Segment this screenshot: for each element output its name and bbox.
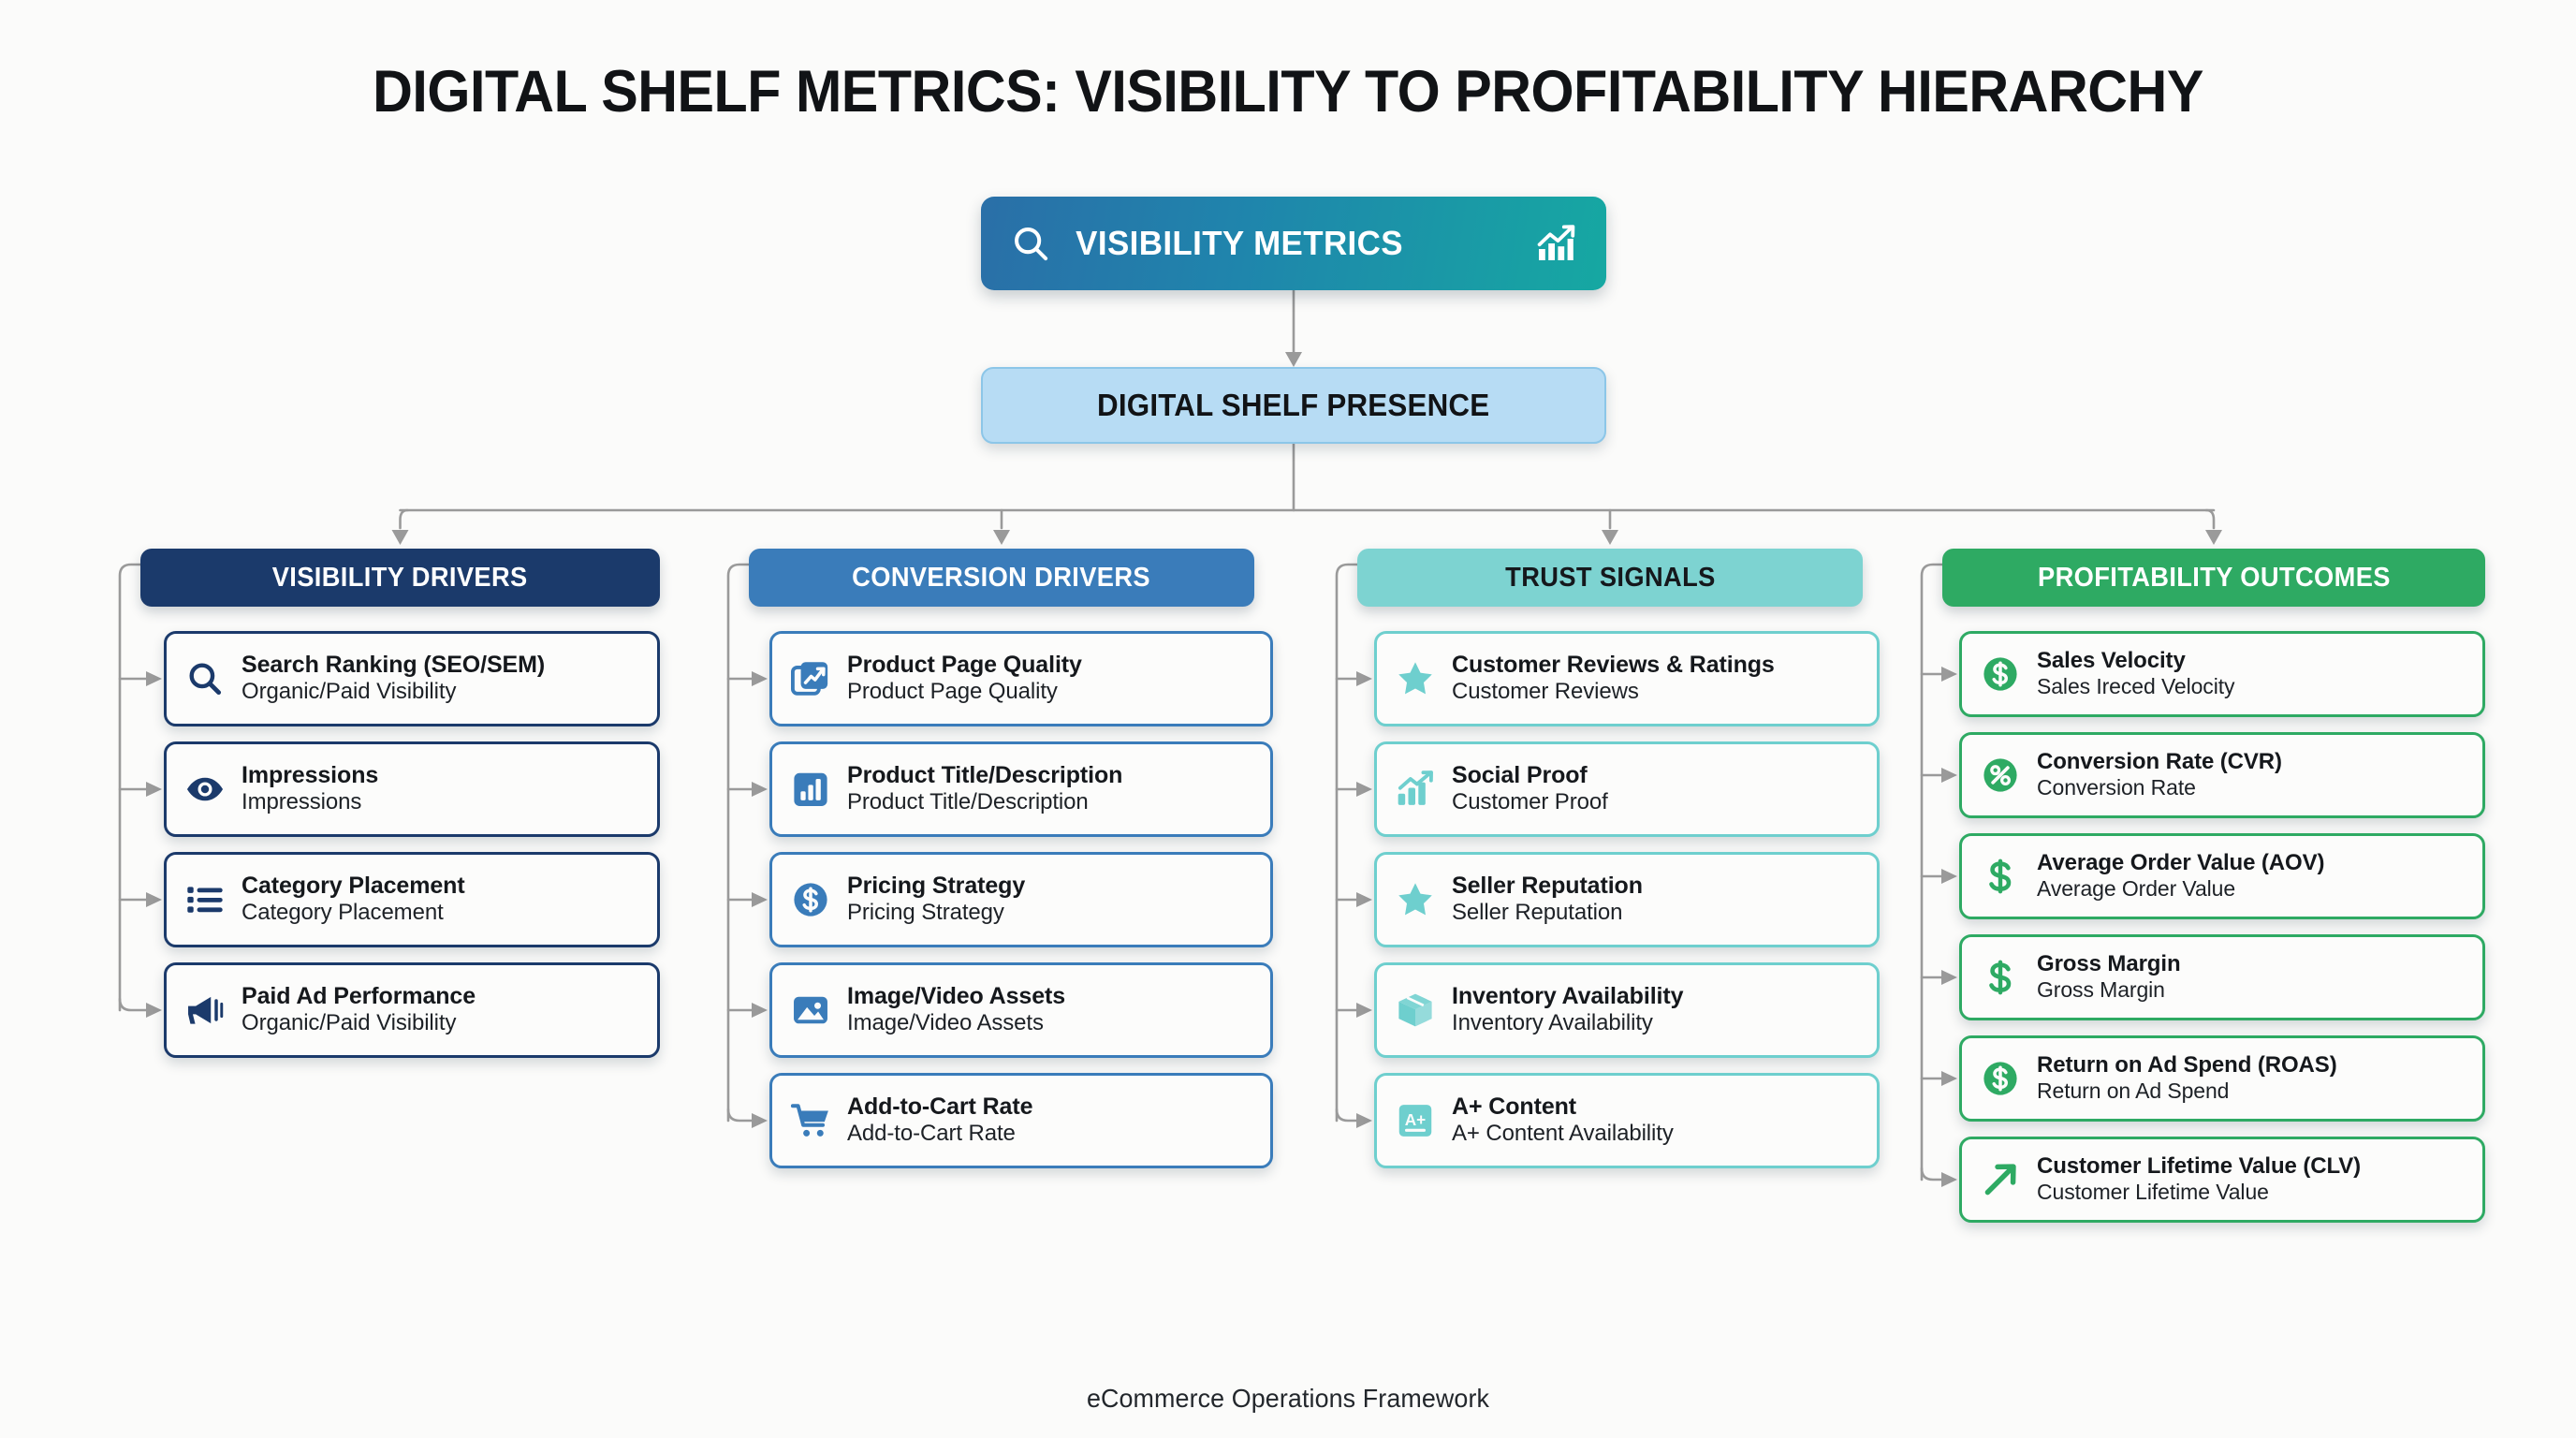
image-icon — [789, 989, 832, 1032]
metric-card-text: Return on Ad Spend (ROAS)Return on Ad Sp… — [2037, 1052, 2469, 1104]
metric-card-title: Add-to-Cart Rate — [847, 1093, 1257, 1121]
arrow-up-right-icon — [1979, 1158, 2022, 1201]
metric-card-subtitle: Return on Ad Spend — [2037, 1078, 2469, 1105]
trend-image-icon — [789, 657, 832, 700]
metric-card[interactable]: Product Title/DescriptionProduct Title/D… — [769, 741, 1273, 837]
metric-card-subtitle: Category Placement — [241, 900, 644, 927]
metric-card-subtitle: Conversion Rate — [2037, 775, 2469, 801]
metric-card-text: Image/Video AssetsImage/Video Assets — [847, 983, 1257, 1037]
cart-icon — [789, 1099, 832, 1142]
root-node-visibility-metrics[interactable]: VISIBILITY METRICS — [981, 197, 1606, 290]
column-trust-signals: TRUST SIGNALSCustomer Reviews & RatingsC… — [1357, 549, 1863, 607]
column-header-visibility-drivers[interactable]: VISIBILITY DRIVERS — [140, 549, 660, 607]
metric-card-title: Inventory Availability — [1452, 983, 1864, 1010]
metric-card[interactable]: Social ProofCustomer Proof — [1374, 741, 1880, 837]
metric-card-subtitle: Organic/Paid Visibility — [241, 1010, 644, 1037]
metric-card[interactable]: Image/Video AssetsImage/Video Assets — [769, 962, 1273, 1058]
dollar-circle-icon — [789, 878, 832, 921]
megaphone-icon — [183, 989, 227, 1032]
metric-card[interactable]: A+ A+ ContentA+ Content Availability — [1374, 1073, 1880, 1168]
aplus-icon: A+ — [1394, 1099, 1437, 1142]
metric-card-title: Social Proof — [1452, 762, 1864, 789]
metric-card-text: Inventory AvailabilityInventory Availabi… — [1452, 983, 1864, 1037]
metric-card[interactable]: Conversion Rate (CVR)Conversion Rate — [1959, 732, 2485, 818]
metric-card-title: Gross Margin — [2037, 951, 2469, 977]
column-profitability-outcomes: PROFITABILITY OUTCOMES Sales VelocitySal… — [1942, 549, 2485, 607]
metric-card-subtitle: Product Title/Description — [847, 789, 1257, 816]
metric-card[interactable]: Customer Reviews & RatingsCustomer Revie… — [1374, 631, 1880, 726]
metric-card-subtitle: Gross Margin — [2037, 977, 2469, 1004]
svg-text:A+: A+ — [1405, 1110, 1427, 1129]
star-icon — [1394, 657, 1437, 700]
metric-card-title: Sales Velocity — [2037, 648, 2469, 674]
bar-chart-icon — [789, 768, 832, 811]
metric-card-text: Customer Lifetime Value (CLV)Customer Li… — [2037, 1153, 2469, 1205]
page-title: DIGITAL SHELF METRICS: VISIBILITY TO PRO… — [78, 58, 2499, 125]
column-header-profitability-outcomes[interactable]: PROFITABILITY OUTCOMES — [1942, 549, 2485, 607]
chart-growth-icon — [1533, 221, 1578, 266]
metric-card[interactable]: Paid Ad PerformanceOrganic/Paid Visibili… — [164, 962, 660, 1058]
metric-card-text: Category PlacementCategory Placement — [241, 873, 644, 927]
metric-card-text: Conversion Rate (CVR)Conversion Rate — [2037, 749, 2469, 800]
metric-card[interactable]: Product Page QualityProduct Page Quality — [769, 631, 1273, 726]
level2-node-label: DIGITAL SHELF PRESENCE — [1097, 388, 1489, 423]
dollar-circle-icon — [1979, 653, 2022, 696]
metric-card[interactable]: Seller ReputationSeller Reputation — [1374, 852, 1880, 947]
metric-card-subtitle: Sales Ireced Velocity — [2037, 674, 2469, 700]
metric-card-text: Product Page QualityProduct Page Quality — [847, 652, 1257, 706]
dollar-icon — [1979, 956, 2022, 999]
metric-card[interactable]: Add-to-Cart RateAdd-to-Cart Rate — [769, 1073, 1273, 1168]
metric-card-text: A+ ContentA+ Content Availability — [1452, 1093, 1864, 1148]
metric-card-text: Customer Reviews & RatingsCustomer Revie… — [1452, 652, 1864, 706]
metric-card-title: Average Order Value (AOV) — [2037, 850, 2469, 876]
metric-card-subtitle: Product Page Quality — [847, 679, 1257, 706]
metric-card-title: Customer Lifetime Value (CLV) — [2037, 1153, 2469, 1180]
column-header-label: CONVERSION DRIVERS — [853, 563, 1151, 594]
metric-card-subtitle: Inventory Availability — [1452, 1010, 1864, 1037]
column-header-label: PROFITABILITY OUTCOMES — [2038, 563, 2391, 594]
column-header-trust-signals[interactable]: TRUST SIGNALS — [1357, 549, 1863, 607]
metric-card[interactable]: Sales VelocitySales Ireced Velocity — [1959, 631, 2485, 717]
column-conversion-drivers: CONVERSION DRIVERS Product Page QualityP… — [749, 549, 1273, 607]
metric-card-subtitle: Customer Proof — [1452, 789, 1864, 816]
metric-card-title: Impressions — [241, 762, 644, 789]
metric-card-subtitle: Organic/Paid Visibility — [241, 679, 644, 706]
eye-icon — [183, 768, 227, 811]
metric-card-title: Pricing Strategy — [847, 873, 1257, 900]
metric-card-text: Sales VelocitySales Ireced Velocity — [2037, 648, 2469, 699]
metric-card-title: Conversion Rate (CVR) — [2037, 749, 2469, 775]
metric-card-title: Paid Ad Performance — [241, 983, 644, 1010]
column-header-label: TRUST SIGNALS — [1505, 563, 1715, 594]
footer-note: eCommerce Operations Framework — [51, 1384, 2525, 1414]
metric-card-subtitle: Customer Lifetime Value — [2037, 1180, 2469, 1206]
root-node-label: VISIBILITY METRICS — [1076, 224, 1510, 263]
dollar-circle-icon — [1979, 1057, 2022, 1100]
metric-card-title: Product Title/Description — [847, 762, 1257, 789]
metric-card[interactable]: Gross MarginGross Margin — [1959, 934, 2485, 1020]
percent-circle-icon — [1979, 754, 2022, 797]
metric-card-title: A+ Content — [1452, 1093, 1864, 1121]
metric-card-text: Search Ranking (SEO/SEM)Organic/Paid Vis… — [241, 652, 644, 706]
metric-card-subtitle: Pricing Strategy — [847, 900, 1257, 927]
dollar-icon — [1979, 855, 2022, 898]
metric-card-subtitle: A+ Content Availability — [1452, 1121, 1864, 1148]
metric-card-text: ImpressionsImpressions — [241, 762, 644, 816]
metric-card[interactable]: Inventory AvailabilityInventory Availabi… — [1374, 962, 1880, 1058]
metric-card-title: Category Placement — [241, 873, 644, 900]
metric-card-title: Seller Reputation — [1452, 873, 1864, 900]
metric-card-subtitle: Image/Video Assets — [847, 1010, 1257, 1037]
metric-card-text: Social ProofCustomer Proof — [1452, 762, 1864, 816]
metric-card-text: Paid Ad PerformanceOrganic/Paid Visibili… — [241, 983, 644, 1037]
metric-card-subtitle: Impressions — [241, 789, 644, 816]
metric-card[interactable]: Customer Lifetime Value (CLV)Customer Li… — [1959, 1137, 2485, 1223]
metric-card-title: Image/Video Assets — [847, 983, 1257, 1010]
metric-card-title: Customer Reviews & Ratings — [1452, 652, 1864, 679]
metric-card[interactable]: Search Ranking (SEO/SEM)Organic/Paid Vis… — [164, 631, 660, 726]
metric-card-title: Search Ranking (SEO/SEM) — [241, 652, 644, 679]
metric-card[interactable]: Category PlacementCategory Placement — [164, 852, 660, 947]
bar-growth-icon — [1394, 768, 1437, 811]
metric-card-subtitle: Add-to-Cart Rate — [847, 1121, 1257, 1148]
column-header-label: VISIBILITY DRIVERS — [272, 563, 528, 594]
metric-card[interactable]: Average Order Value (AOV)Average Order V… — [1959, 833, 2485, 919]
metric-card-text: Product Title/DescriptionProduct Title/D… — [847, 762, 1257, 816]
star-icon — [1394, 878, 1437, 921]
search-icon — [1009, 222, 1052, 265]
metric-card[interactable]: Return on Ad Spend (ROAS)Return on Ad Sp… — [1959, 1035, 2485, 1122]
metric-card-text: Pricing StrategyPricing Strategy — [847, 873, 1257, 927]
metric-card-subtitle: Customer Reviews — [1452, 679, 1864, 706]
search-icon — [183, 657, 227, 700]
metric-card-text: Add-to-Cart RateAdd-to-Cart Rate — [847, 1093, 1257, 1148]
metric-card-text: Average Order Value (AOV)Average Order V… — [2037, 850, 2469, 902]
metric-card-title: Product Page Quality — [847, 652, 1257, 679]
column-visibility-drivers: VISIBILITY DRIVERSSearch Ranking (SEO/SE… — [140, 549, 660, 607]
box-icon — [1394, 989, 1437, 1032]
metric-card[interactable]: Pricing StrategyPricing Strategy — [769, 852, 1273, 947]
metric-card-subtitle: Average Order Value — [2037, 876, 2469, 902]
metric-card[interactable]: ImpressionsImpressions — [164, 741, 660, 837]
list-icon — [183, 878, 227, 921]
metric-card-title: Return on Ad Spend (ROAS) — [2037, 1052, 2469, 1078]
metric-card-subtitle: Seller Reputation — [1452, 900, 1864, 927]
metric-card-text: Gross MarginGross Margin — [2037, 951, 2469, 1003]
level2-node-digital-shelf-presence[interactable]: DIGITAL SHELF PRESENCE — [981, 367, 1606, 444]
diagram-canvas: DIGITAL SHELF METRICS: VISIBILITY TO PRO… — [0, 0, 2576, 1438]
column-header-conversion-drivers[interactable]: CONVERSION DRIVERS — [749, 549, 1254, 607]
metric-card-text: Seller ReputationSeller Reputation — [1452, 873, 1864, 927]
